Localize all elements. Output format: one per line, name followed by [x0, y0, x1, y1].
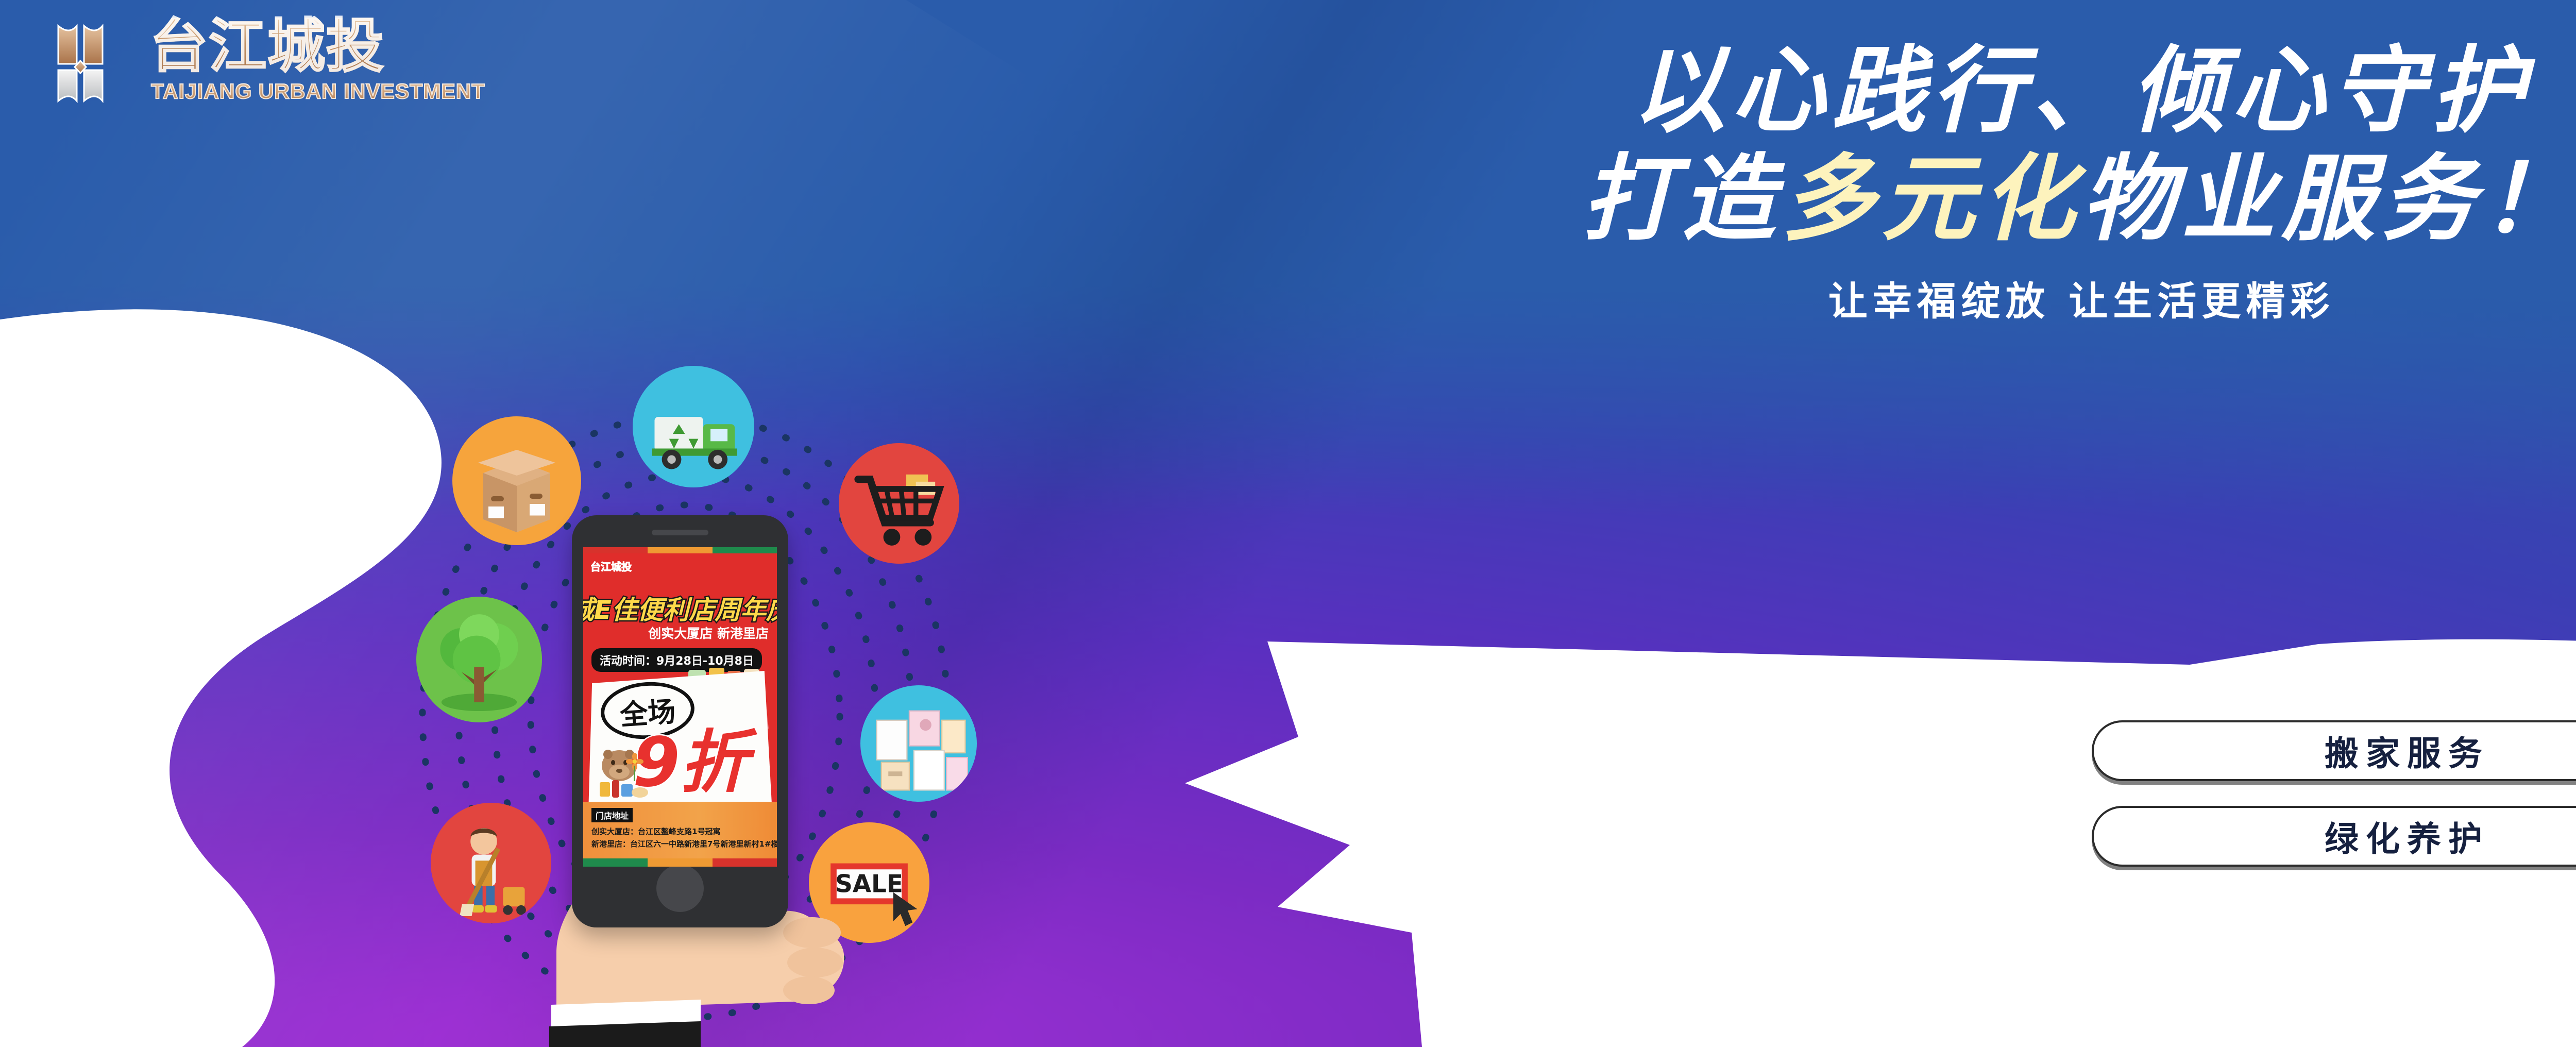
- poster-address-line-1: 创实大厦店：台江区鳌峰支路1号冠寓: [591, 826, 720, 837]
- headline-line-2-part-2: 物业服务！: [2081, 144, 2576, 254]
- promotional-banner: 台江城投 TAIJIANG URBAN INVESTMENT 以心践行、倾心守护…: [0, 0, 2576, 1047]
- poster-address-line-2: 新港里店：台江区六一中路新港里7号新港里新村1#楼店面3: [591, 838, 777, 849]
- headline-line-1: 以心践行、倾心守护: [1180, 39, 2576, 144]
- poster-title: 城E佳便利店周年庆: [583, 589, 777, 627]
- headline-line-2-accent: 多元化: [1782, 144, 2081, 254]
- phone-home-button[interactable]: [656, 865, 704, 912]
- taijiang-gate-emblem-icon: [54, 14, 143, 106]
- phone-screen: 台江城投 城E佳便利店周年庆 创实大厦店 新港里店 活动时间：9月28日-10月…: [583, 547, 777, 867]
- service-button-landscaping[interactable]: 绿化养护: [2092, 806, 2576, 867]
- poster-bottom-colorbar: [583, 858, 777, 867]
- poster-brand-logo: 台江城投: [590, 559, 632, 573]
- poster-address-heading: 门店地址: [591, 808, 633, 822]
- brand-logo: 台江城投 TAIJIANG URBAN INVESTMENT: [54, 14, 518, 112]
- logo-english-name: TAIJIANG URBAN INVESTMENT: [151, 79, 485, 104]
- headline-line-2: 打造多元化物业服务！: [1180, 147, 2576, 252]
- service-buttons-grid: 搬家服务 商品零售 家政服务 绿化养护 停车服务 环境卫生: [2092, 720, 2576, 867]
- phone-illustration: SALE: [330, 356, 1061, 1047]
- headline-block: 以心践行、倾心守护 打造多元化物业服务！ 让幸福绽放 让生活更精彩: [1180, 39, 2576, 326]
- promo-poster: 台江城投 城E佳便利店周年庆 创实大厦店 新港里店 活动时间：9月28日-10月…: [583, 547, 777, 867]
- smartphone-mockup: 台江城投 城E佳便利店周年庆 创实大厦店 新港里店 活动时间：9月28日-10月…: [572, 515, 788, 927]
- service-button-moving[interactable]: 搬家服务: [2092, 720, 2576, 781]
- phone-speaker: [652, 530, 708, 535]
- moving-box-icon: [452, 416, 581, 545]
- poster-top-colorbar: [583, 547, 777, 553]
- logo-chinese-name: 台江城投: [150, 18, 385, 75]
- capybara-mascot-icon: [590, 739, 652, 801]
- shopping-cart-icon: [839, 443, 959, 564]
- recycle-truck-icon: [633, 366, 754, 487]
- headline-line-2-part-1: 打造: [1582, 144, 1782, 254]
- headline-subtitle: 让幸福绽放 让生活更精彩: [1180, 269, 2576, 326]
- poster-store-names: 创实大厦店 新港里店: [648, 623, 769, 642]
